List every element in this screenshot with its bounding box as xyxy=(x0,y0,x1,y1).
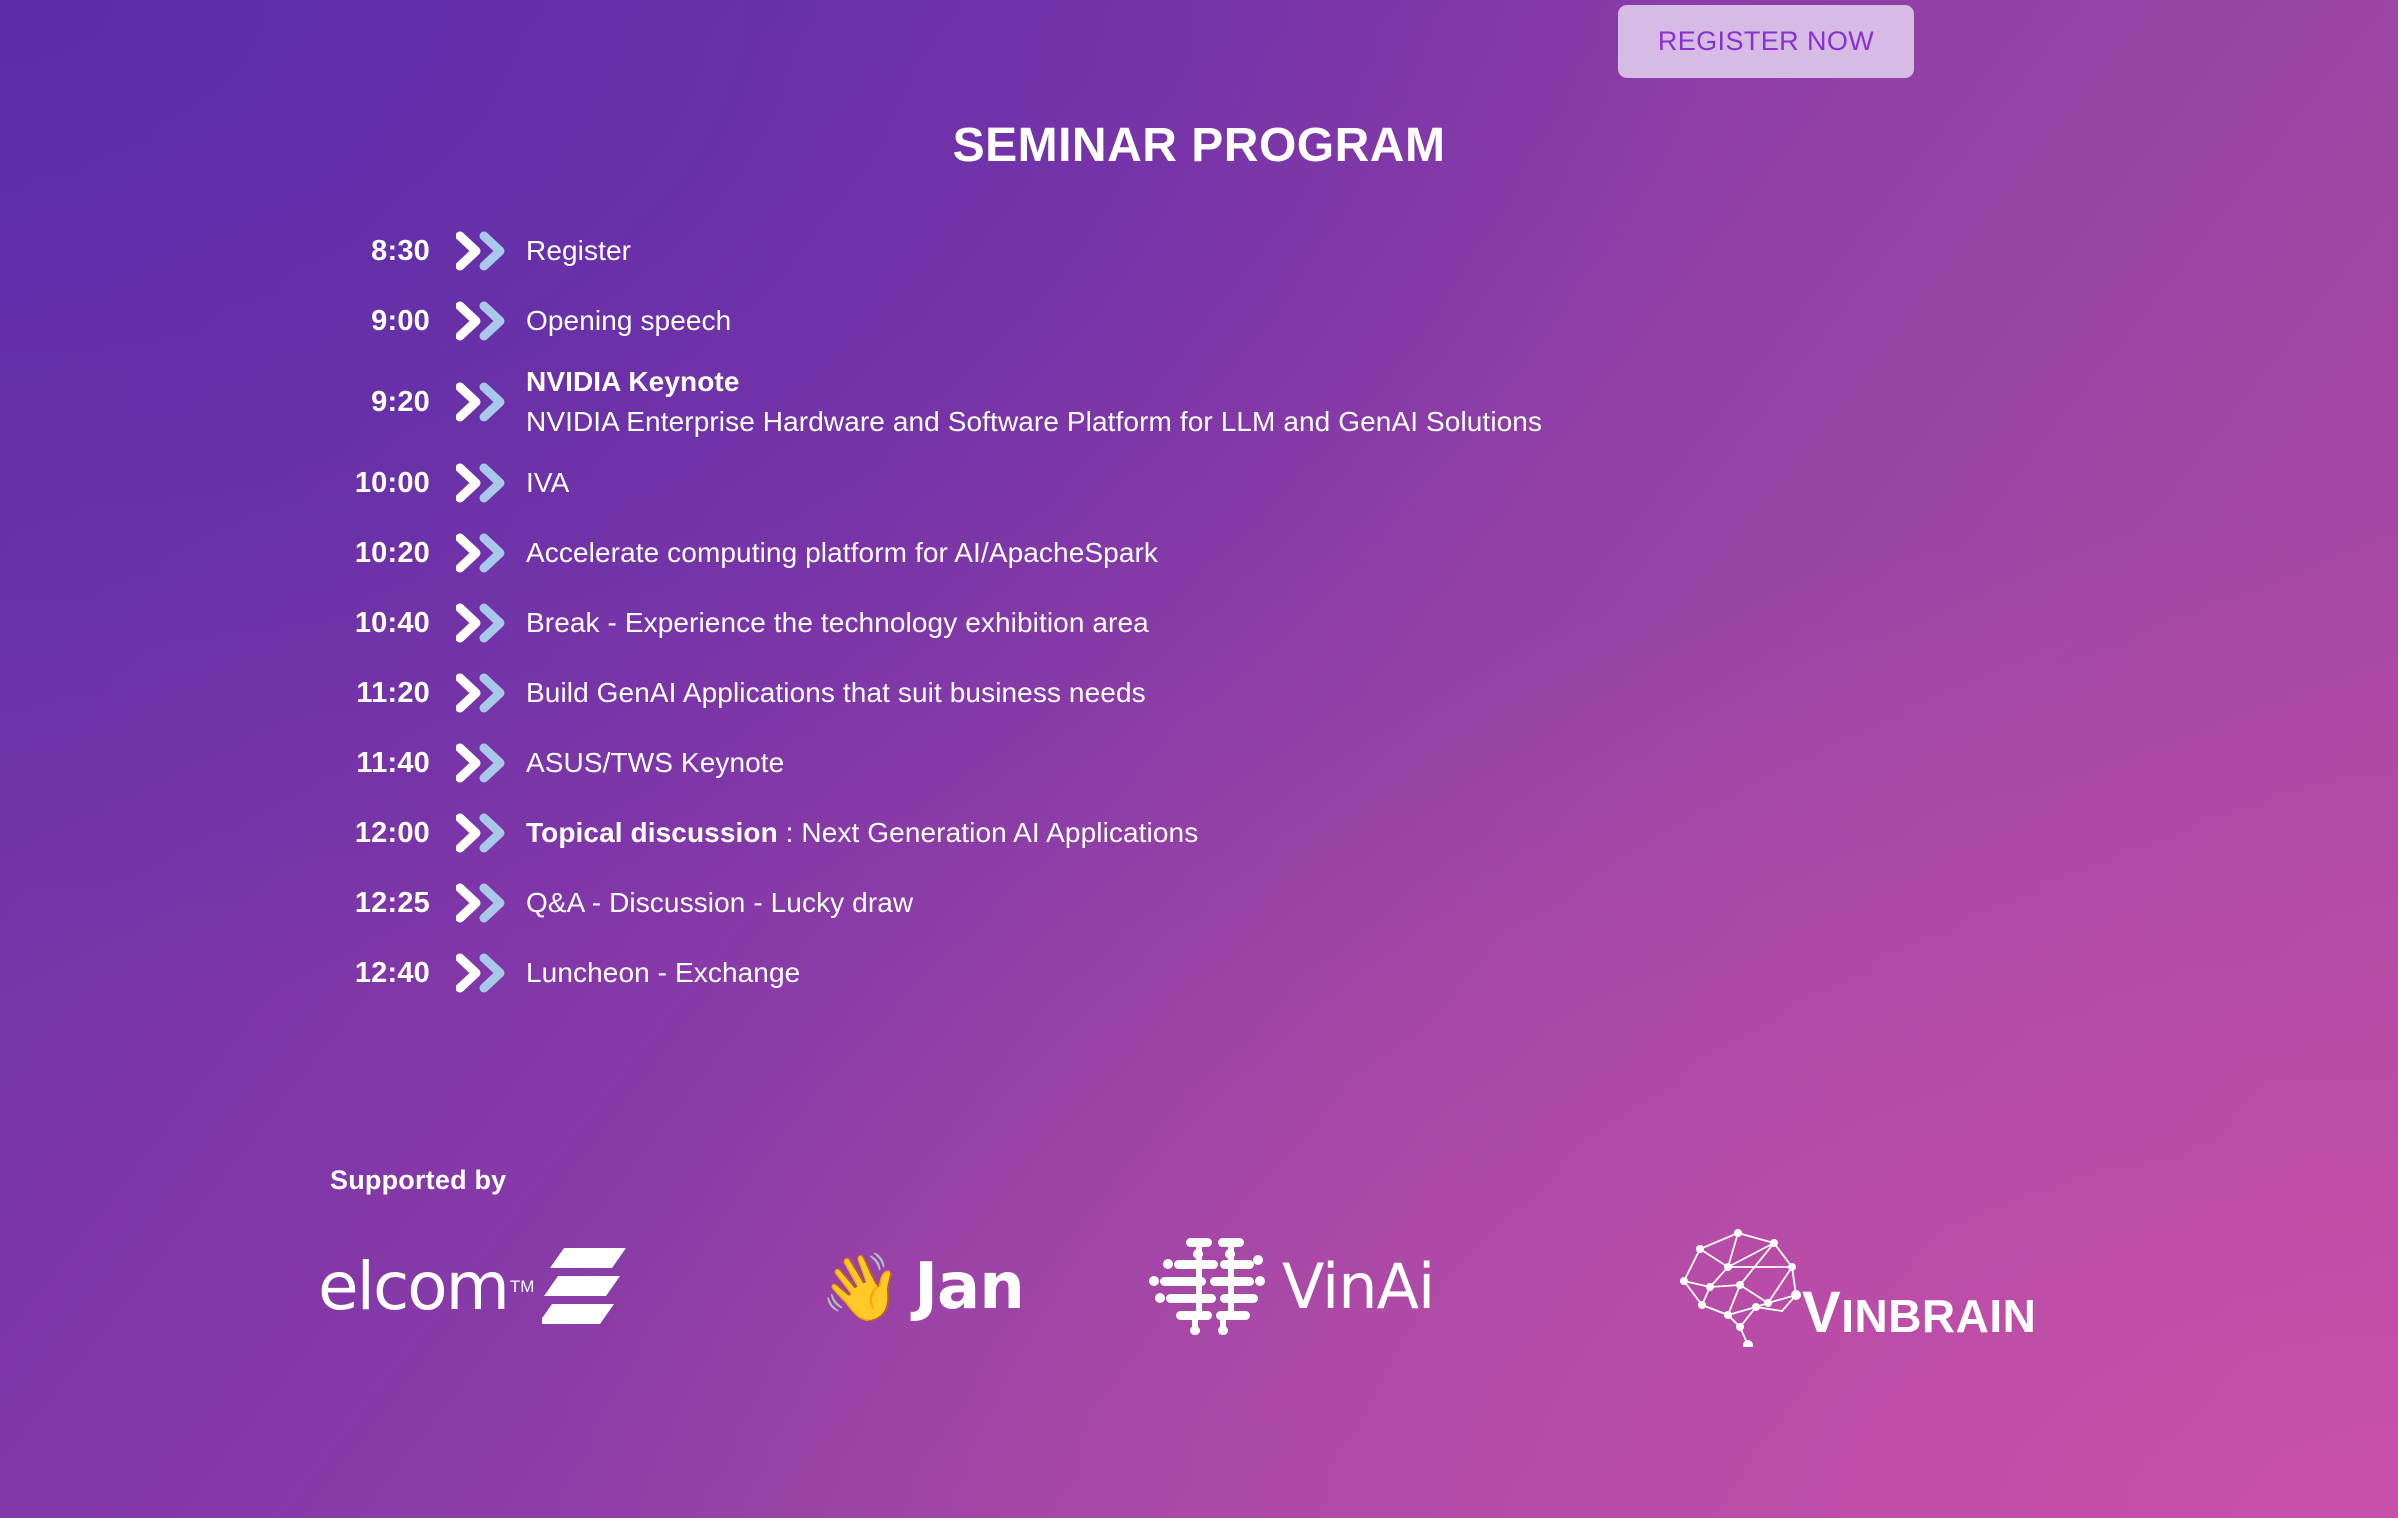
supporter-logo-vinai: VinAi xyxy=(1130,1222,1600,1352)
schedule-row: 9:00 Opening speech xyxy=(0,286,2398,356)
double-chevron-right-icon xyxy=(430,301,526,341)
schedule-description: Register xyxy=(526,231,631,271)
schedule-description: Build GenAI Applications that suit busin… xyxy=(526,673,1146,713)
vinbrain-wordmark-rest: INBRAIN xyxy=(1841,1290,2036,1342)
double-chevron-right-icon xyxy=(430,813,526,853)
vinbrain-wordmark: VINBRAIN xyxy=(1802,1284,2036,1342)
schedule-description: Accelerate computing platform for AI/Apa… xyxy=(526,533,1158,573)
schedule-row: 9:20 NVIDIA Keynote NVIDIA Enterprise Ha… xyxy=(0,356,2398,448)
schedule-description: IVA xyxy=(526,463,569,503)
schedule-time: 10:40 xyxy=(0,607,430,640)
vinai-wordmark: VinAi xyxy=(1282,1256,1434,1318)
schedule-description-subtitle: NVIDIA Enterprise Hardware and Software … xyxy=(526,402,1542,442)
schedule-time: 12:25 xyxy=(0,887,430,920)
supporter-logo-strip: elcom TM 👋 Jan xyxy=(300,1222,2120,1352)
schedule-row: 11:20 Build GenAI Applications that suit… xyxy=(0,658,2398,728)
page-title: SEMINAR PROGRAM xyxy=(0,118,2398,173)
seminar-schedule-list: 8:30 Register 9:00 Opening speech 9:20 xyxy=(0,216,2398,1008)
schedule-description-rest: : Next Generation AI Applications xyxy=(778,817,1199,848)
supporter-logo-vinbrain: VINBRAIN xyxy=(1600,1222,2070,1352)
schedule-row: 12:40 Luncheon - Exchange xyxy=(0,938,2398,1008)
double-chevron-right-icon xyxy=(430,673,526,713)
schedule-time: 10:20 xyxy=(0,537,430,570)
schedule-time: 9:00 xyxy=(0,305,430,338)
schedule-time: 10:00 xyxy=(0,467,430,500)
schedule-description: Luncheon - Exchange xyxy=(526,953,800,993)
schedule-row: 10:20 Accelerate computing platform for … xyxy=(0,518,2398,588)
double-chevron-right-icon xyxy=(430,603,526,643)
brain-network-icon xyxy=(1670,1223,1820,1352)
elcom-e-mark-icon xyxy=(542,1246,628,1329)
schedule-row: 8:30 Register xyxy=(0,216,2398,286)
supported-by-label: Supported by xyxy=(330,1165,506,1196)
double-chevron-right-icon xyxy=(430,743,526,783)
register-now-button[interactable]: REGISTER NOW xyxy=(1618,5,1914,78)
schedule-time: 11:20 xyxy=(0,677,430,710)
jan-wordmark: Jan xyxy=(914,1255,1024,1319)
schedule-description: Opening speech xyxy=(526,301,731,341)
trademark-icon: TM xyxy=(510,1277,535,1297)
schedule-row: 12:25 Q&A - Discussion - Lucky draw xyxy=(0,868,2398,938)
schedule-description: Topical discussion : Next Generation AI … xyxy=(526,813,1198,853)
schedule-row: 11:40 ASUS/TWS Keynote xyxy=(0,728,2398,798)
schedule-time: 8:30 xyxy=(0,235,430,268)
supporter-logo-jan: 👋 Jan xyxy=(690,1222,1130,1352)
elcom-wordmark: elcom xyxy=(318,1254,508,1320)
schedule-description-bold: Topical discussion xyxy=(526,817,778,848)
double-chevron-right-icon xyxy=(430,382,526,422)
schedule-time: 9:20 xyxy=(0,386,430,419)
waving-hand-icon: 👋 xyxy=(820,1254,902,1320)
schedule-time: 12:00 xyxy=(0,817,430,850)
schedule-row: 10:40 Break - Experience the technology … xyxy=(0,588,2398,658)
vinbrain-wordmark-cap: V xyxy=(1802,1280,1841,1345)
schedule-row: 12:00 Topical discussion : Next Generati… xyxy=(0,798,2398,868)
schedule-row: 10:00 IVA xyxy=(0,448,2398,518)
schedule-description: ASUS/TWS Keynote xyxy=(526,743,784,783)
schedule-description: Q&A - Discussion - Lucky draw xyxy=(526,883,913,923)
double-chevron-right-icon xyxy=(430,953,526,993)
schedule-description: NVIDIA Keynote NVIDIA Enterprise Hardwar… xyxy=(526,362,1542,442)
schedule-time: 12:40 xyxy=(0,957,430,990)
double-chevron-right-icon xyxy=(430,463,526,503)
schedule-description-title: NVIDIA Keynote xyxy=(526,362,1542,402)
double-chevron-right-icon xyxy=(430,883,526,923)
supporter-logo-elcom: elcom TM xyxy=(300,1222,690,1352)
double-chevron-right-icon xyxy=(430,533,526,573)
schedule-description: Break - Experience the technology exhibi… xyxy=(526,603,1149,643)
schedule-time: 11:40 xyxy=(0,747,430,780)
double-chevron-right-icon xyxy=(430,231,526,271)
vinai-network-mark-icon xyxy=(1140,1230,1268,1345)
